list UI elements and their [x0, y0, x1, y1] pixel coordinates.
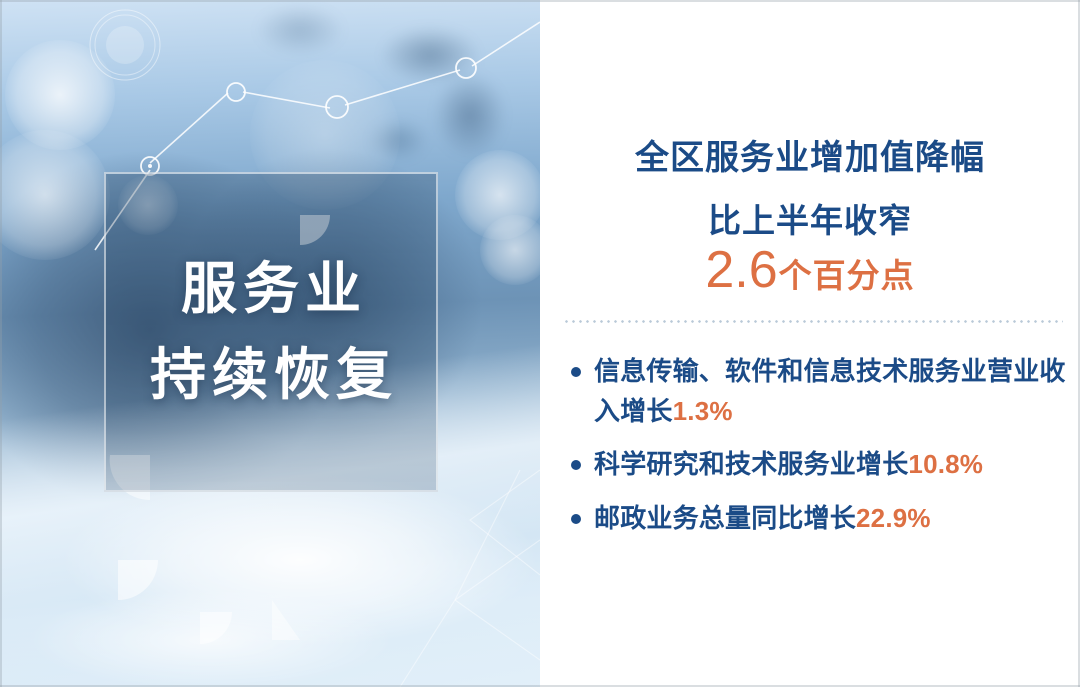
statistic-value: 2.6 [705, 241, 777, 299]
headline-line-2: 比上半年收窄 [540, 194, 1080, 242]
content-panel: 全区服务业增加值降幅 比上半年收窄 2.6个百分点 信息传输、软件和信息技术服务… [540, 0, 1080, 687]
photo-caption-frame: 服务业 持续恢复 [104, 172, 438, 492]
list-item: 科学研究和技术服务业增长10.8% [568, 445, 1068, 485]
dotted-divider [563, 320, 1063, 323]
list-item: 邮政业务总量同比增长22.9% [568, 499, 1068, 539]
bullet-dot-icon [571, 514, 581, 524]
bullet-list: 信息传输、软件和信息技术服务业营业收入增长1.3% 科学研究和技术服务业增长10… [568, 352, 1068, 538]
key-statistic: 2.6个百分点 [540, 240, 1080, 300]
photo-caption-line-2: 持续恢复 [144, 335, 398, 415]
infographic-poster: 服务业 持续恢复 全区服务业增加值降幅 比上半年收窄 2.6个百分点 信息传输、… [0, 0, 1080, 687]
statistic-unit: 个百分点 [779, 257, 915, 294]
list-item: 信息传输、软件和信息技术服务业营业收入增长1.3% [568, 352, 1068, 431]
list-item-text: 邮政业务总量同比增长 [594, 503, 856, 533]
photo-caption-line-1: 服务业 [175, 249, 367, 329]
bullet-dot-icon [571, 367, 581, 377]
list-item-text: 科学研究和技术服务业增长 [594, 449, 908, 479]
bullet-dot-icon [571, 460, 581, 470]
list-item-value: 1.3% [673, 396, 733, 426]
photo-panel: 服务业 持续恢复 [0, 0, 540, 687]
list-item-value: 10.8% [908, 449, 983, 479]
list-item-value: 22.9% [856, 503, 931, 533]
headline-line-1: 全区服务业增加值降幅 [540, 130, 1080, 179]
list-item-text: 信息传输、软件和信息技术服务业营业收入增长 [594, 356, 1066, 426]
